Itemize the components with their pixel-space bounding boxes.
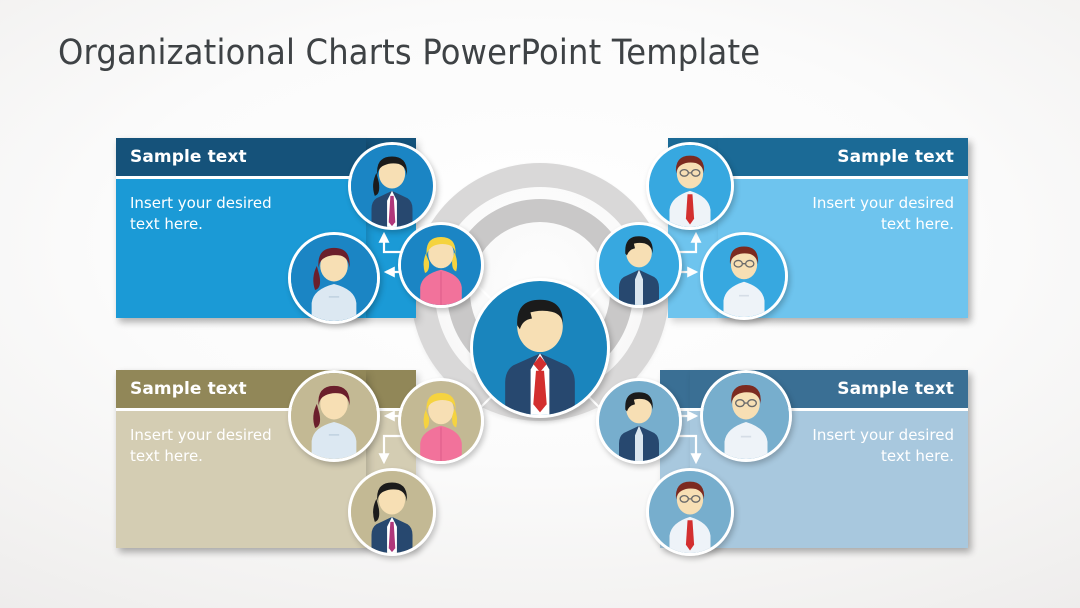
panel-title: Sample text xyxy=(130,147,247,167)
node-bottom-left-branch-b-dark-hair-woman[interactable] xyxy=(348,468,436,556)
node-bottom-left-level2-blonde-woman[interactable] xyxy=(398,378,484,464)
panel-title: Sample text xyxy=(837,379,954,399)
person-icon xyxy=(599,381,679,461)
node-bottom-right-branch-b-red-hair-man[interactable] xyxy=(646,468,734,556)
person-icon xyxy=(649,471,731,553)
slide-canvas: Organizational Charts PowerPoint Templat… xyxy=(0,0,1080,608)
person-icon xyxy=(351,145,433,227)
node-central-leader[interactable] xyxy=(470,278,610,418)
node-top-right-level2-black-hair-man[interactable] xyxy=(596,222,682,308)
panel-text: Insert your desired text here. xyxy=(732,193,954,236)
page-title: Organizational Charts PowerPoint Templat… xyxy=(58,33,760,73)
panel-title: Sample text xyxy=(837,147,954,167)
person-icon xyxy=(291,373,377,459)
node-top-right-branch-b-red-hair-man-glasses[interactable] xyxy=(700,232,788,320)
node-top-left-level2-blonde-woman[interactable] xyxy=(398,222,484,308)
person-icon xyxy=(401,381,481,461)
panel-text: Insert your desired text here. xyxy=(130,193,352,236)
person-icon xyxy=(401,225,481,305)
node-bottom-right-level2-black-hair-man[interactable] xyxy=(596,378,682,464)
panel-header: Sample text xyxy=(718,138,968,176)
node-bottom-right-branch-a-red-hair-man-glasses[interactable] xyxy=(700,370,792,462)
node-top-left-branch-b-brown-hair-woman[interactable] xyxy=(288,232,380,324)
panel-title: Sample text xyxy=(130,379,247,399)
person-icon xyxy=(473,281,607,415)
person-icon xyxy=(351,471,433,553)
person-icon xyxy=(291,235,377,321)
person-icon xyxy=(649,145,731,227)
person-icon xyxy=(599,225,679,305)
person-icon xyxy=(703,235,785,317)
node-top-left-branch-a-dark-hair-woman[interactable] xyxy=(348,142,436,230)
node-bottom-left-branch-a-brown-hair-woman[interactable] xyxy=(288,370,380,462)
person-icon xyxy=(703,373,789,459)
panel-header: Sample text xyxy=(116,138,366,176)
node-top-right-branch-a-red-hair-man[interactable] xyxy=(646,142,734,230)
